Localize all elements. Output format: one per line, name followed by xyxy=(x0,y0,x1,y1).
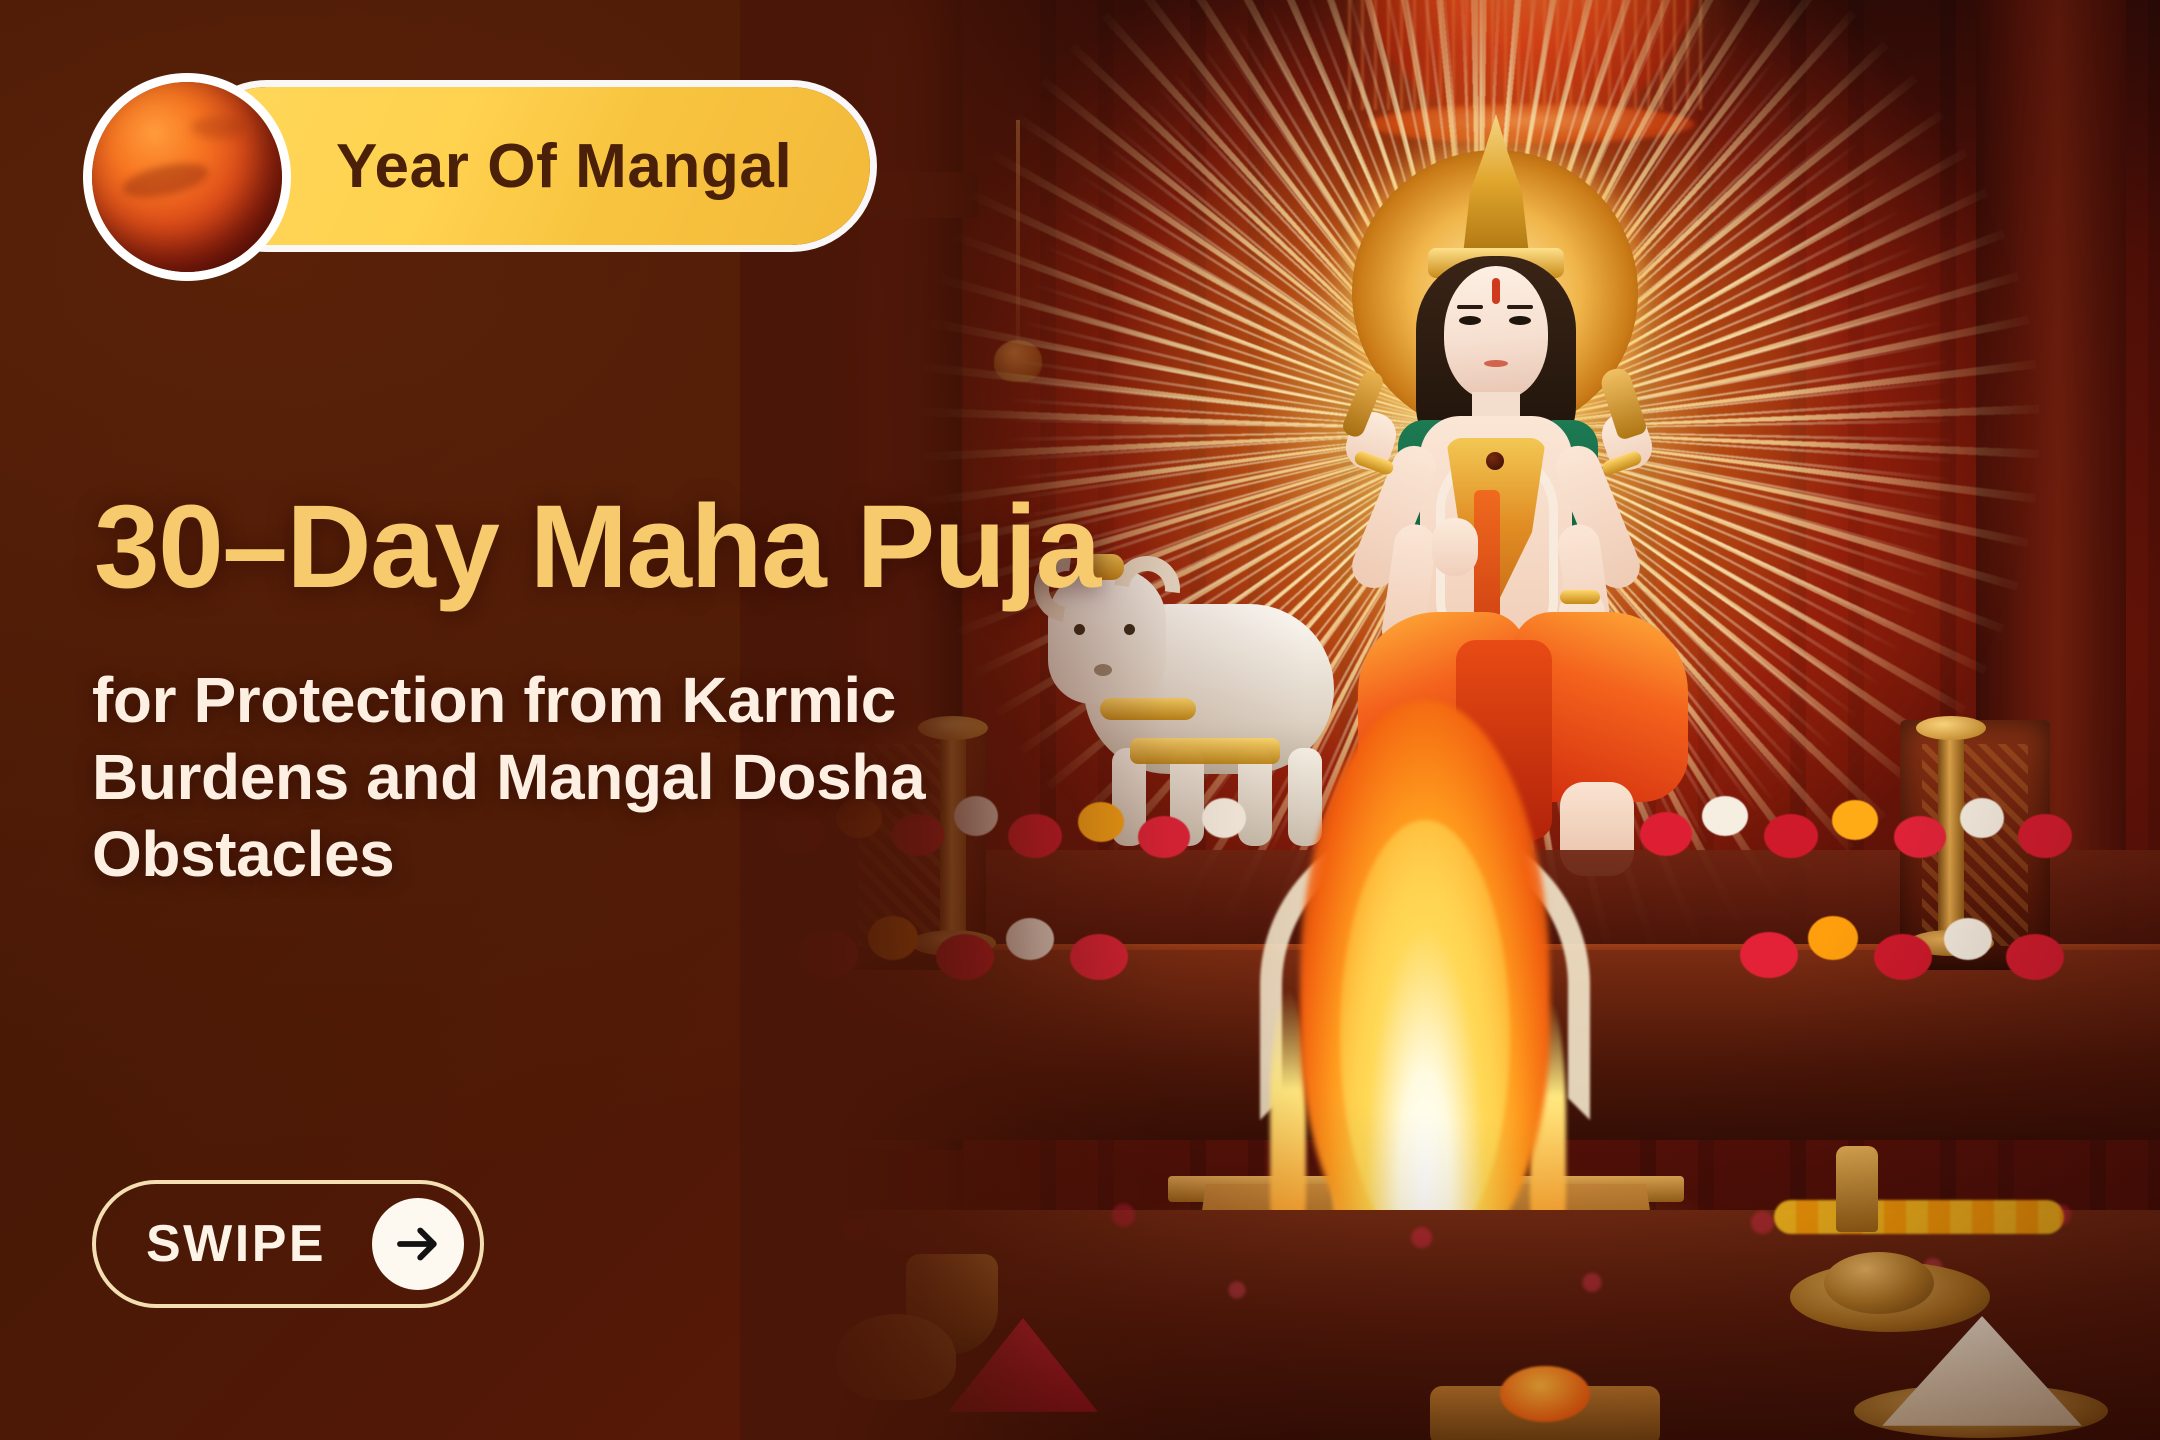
content-overlay: Year Of Mangal 30–Day Maha Puja for Prot… xyxy=(0,0,2160,1440)
swipe-button[interactable]: SWIPE xyxy=(92,1180,484,1308)
swipe-label: SWIPE xyxy=(146,1214,326,1274)
mars-planet-icon xyxy=(92,82,282,272)
promotional-banner: Year Of Mangal 30–Day Maha Puja for Prot… xyxy=(0,0,2160,1440)
subtitle-line-3: Obstacles xyxy=(92,816,1102,893)
badge-pill[interactable]: Year Of Mangal xyxy=(188,87,870,245)
year-of-mangal-badge[interactable]: Year Of Mangal xyxy=(92,82,870,250)
subtitle-line-1: for Protection from Karmic xyxy=(92,662,1102,739)
badge-label: Year Of Mangal xyxy=(336,131,792,202)
subtitle-line-2: Burdens and Mangal Dosha xyxy=(92,739,1102,816)
subtitle: for Protection from Karmic Burdens and M… xyxy=(92,662,1102,892)
page-title: 30–Day Maha Puja xyxy=(94,486,1144,609)
arrow-right-icon[interactable] xyxy=(372,1198,464,1290)
